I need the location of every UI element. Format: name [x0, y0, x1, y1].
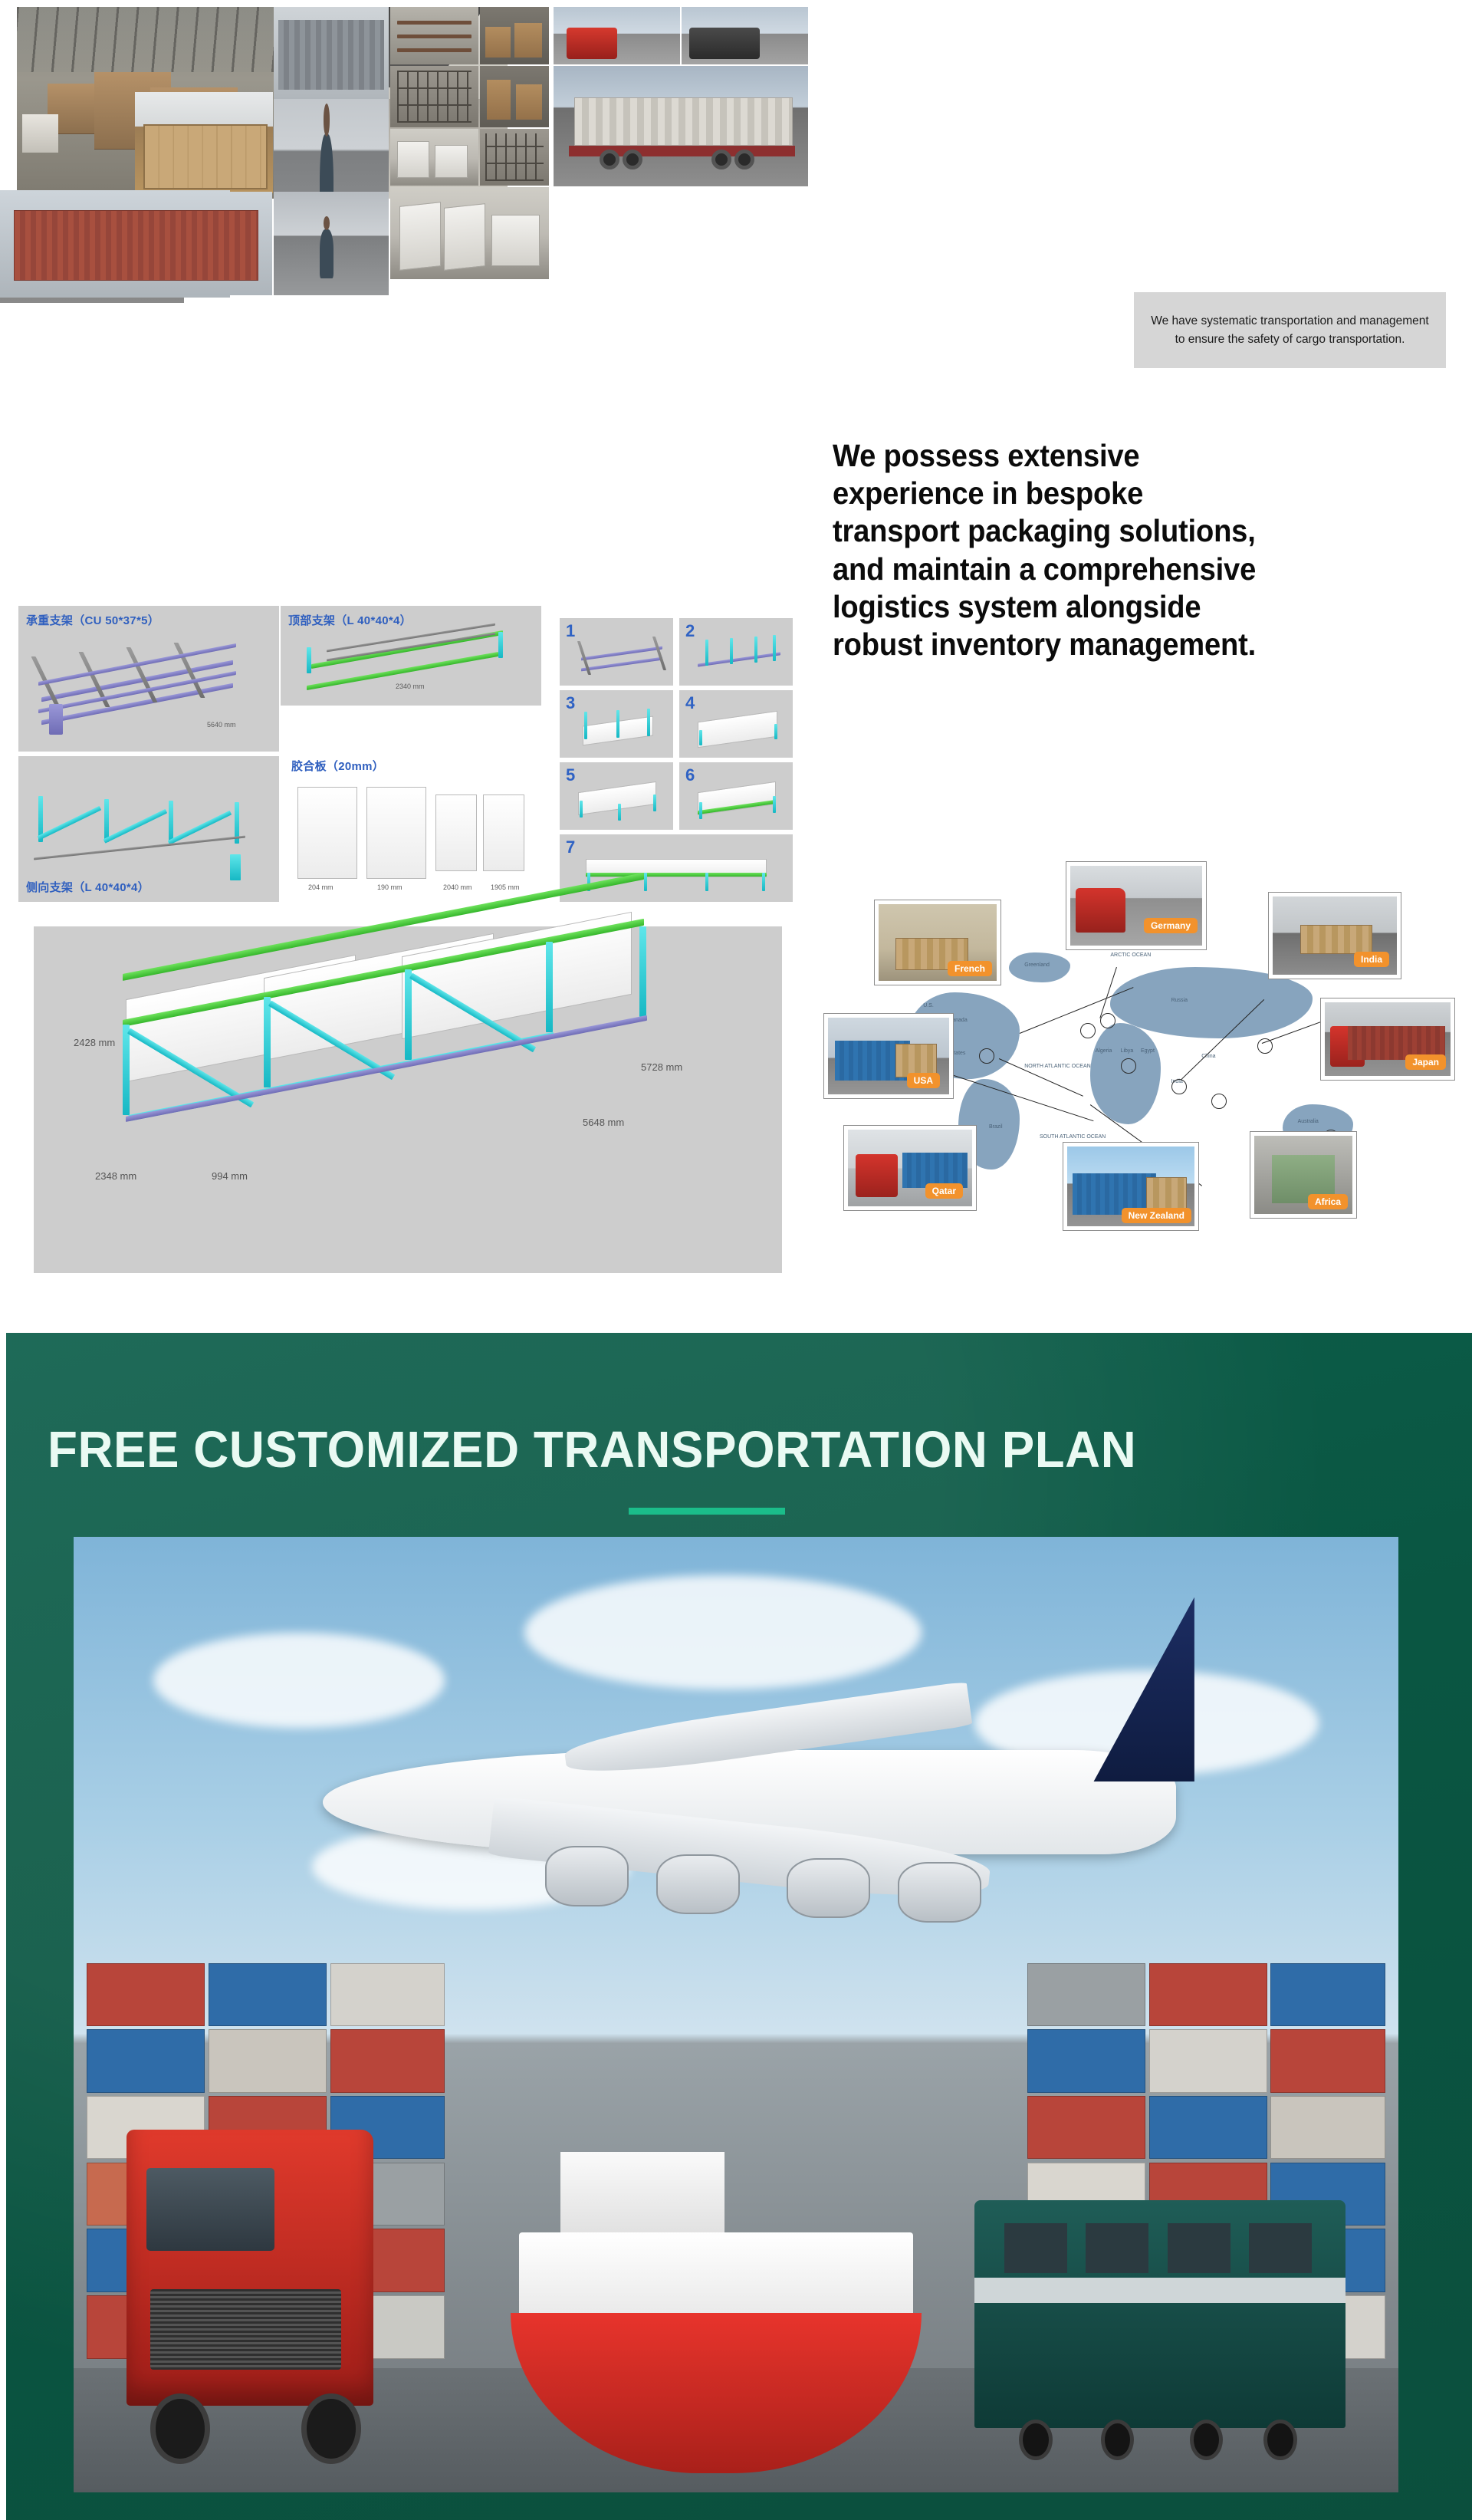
photo-fence-panels-stacked [390, 66, 478, 127]
marketing-page: We have systematic transportation and ma… [0, 0, 1472, 2520]
cad-label-plywood: 胶合板（20mm） [291, 758, 384, 774]
map-label-egypt: Egypt [1141, 1048, 1155, 1054]
photo-fence-panels-rack [480, 129, 549, 186]
cad-dim-top-frame-length: 2340 mm [396, 683, 425, 690]
red-cargo-truck [127, 2101, 524, 2463]
photo-white-panels-warehouse [390, 129, 478, 186]
map-pin-french[interactable] [1080, 1023, 1096, 1038]
cad-hero-3d-frame: 2428 mm 2348 mm 994 mm 5728 mm 5648 mm [34, 926, 782, 1273]
freight-train [974, 2148, 1345, 2473]
map-label-south-atlantic: SOUTH ATLANTIC OCEAN [1040, 1134, 1106, 1140]
map-label-greenland: Greenland [1024, 962, 1050, 968]
photo-worker-at-container [274, 192, 389, 295]
global-destinations-map: Canada U.S. United States Brazil Russia … [820, 832, 1457, 1246]
cad-step-5: 5 [560, 762, 673, 830]
cad-panel-top-frame: 顶部支架（L 40*40*4） 2340 mm [281, 606, 541, 706]
photo-carton-boxes-warehouse [480, 7, 549, 64]
cad-step-7: 7 [560, 834, 793, 902]
destination-card-japan[interactable]: Japan [1320, 998, 1455, 1081]
destination-card-french[interactable]: French [874, 900, 1001, 985]
destination-badge-usa: USA [907, 1073, 940, 1088]
cad-panel-load-bearing-frame: 承重支架（CU 50*37*5） 5640 mm [18, 606, 279, 752]
destination-card-africa[interactable]: Africa [1250, 1131, 1357, 1219]
map-pin-usa[interactable] [979, 1048, 994, 1064]
cargo-ship [511, 2186, 922, 2473]
cad-dim-load-bearing-length: 5640 mm [207, 721, 236, 729]
cad-step-number-3: 3 [566, 693, 575, 713]
destination-card-usa[interactable]: USA [823, 1013, 954, 1099]
map-label-brazil: Brazil [989, 1124, 1003, 1130]
cad-step-number-7: 7 [566, 837, 575, 857]
destination-card-new-zealand[interactable]: New Zealand [1063, 1142, 1199, 1231]
cad-step-3: 3 [560, 690, 673, 758]
photo-white-panels-floor [390, 187, 549, 279]
multimodal-transport-photo [74, 1537, 1398, 2492]
cad-step-4: 4 [679, 690, 793, 758]
destination-badge-qatar: Qatar [925, 1183, 963, 1199]
headline-line-5: logistics system alongside [833, 589, 1201, 624]
headline-line-1: We possess extensive [833, 438, 1139, 473]
map-pin-india[interactable] [1171, 1079, 1187, 1094]
cad-step-6: 6 [679, 762, 793, 830]
destination-badge-germany: Germany [1144, 918, 1198, 933]
cad-panel-plywood: 胶合板（20mm） 204 mm 190 mm 2040 mm 1905 mm [281, 710, 541, 902]
banner-title: FREE CUSTOMIZED TRANSPORTATION PLAN [48, 1420, 1136, 1479]
destination-card-qatar[interactable]: Qatar [843, 1125, 977, 1211]
photo-oversized-wrapped-load-trailer [554, 66, 808, 186]
destination-badge-new-zealand: New Zealand [1122, 1208, 1191, 1223]
cad-step-number-1: 1 [566, 621, 575, 641]
map-label-us: U.S. [923, 1003, 934, 1008]
destination-card-germany[interactable]: Germany [1066, 861, 1207, 950]
cargo-airplane [285, 1614, 1213, 2015]
map-pin-new-zealand[interactable] [1211, 1094, 1227, 1109]
cad-step-number-6: 6 [685, 765, 695, 785]
banner-accent-rule [629, 1508, 785, 1515]
map-label-libya: Libya [1121, 1048, 1134, 1054]
map-label-russia: Russia [1171, 998, 1188, 1003]
transport-caption-box: We have systematic transportation and ma… [1134, 292, 1446, 368]
cad-panel-side-frame: 侧向支架（L 40*40*4） [18, 756, 279, 902]
destination-badge-japan: Japan [1405, 1054, 1446, 1070]
cad-step-number-5: 5 [566, 765, 575, 785]
cad-hero-dim-length-top: 5728 mm [641, 1061, 682, 1073]
destination-badge-india: India [1354, 952, 1389, 967]
cad-hero-dim-height: 2428 mm [74, 1037, 115, 1048]
cad-step-number-4: 4 [685, 693, 695, 713]
cad-hero-dim-width: 2348 mm [95, 1170, 136, 1182]
page-title: We possess extensive experience in bespo… [833, 437, 1410, 663]
headline-line-3: transport packaging solutions, [833, 513, 1256, 548]
destination-badge-africa: Africa [1308, 1194, 1348, 1209]
map-label-algeria: Algeria [1096, 1048, 1112, 1054]
free-plan-banner: FREE CUSTOMIZED TRANSPORTATION PLAN [0, 1333, 1472, 2520]
photo-red-container-row [0, 192, 272, 295]
map-label-australia: Australia [1298, 1119, 1319, 1124]
photo-steel-rack-storage [390, 7, 478, 64]
headline-line-6: robust inventory management. [833, 627, 1256, 662]
headline-block: We possess extensive experience in bespo… [833, 437, 1454, 663]
cad-step-number-2: 2 [685, 621, 695, 641]
cad-hero-dim-length-base: 5648 mm [583, 1117, 624, 1128]
cad-step-2: 2 [679, 618, 793, 686]
map-label-north-atlantic: NORTH ATLANTIC OCEAN [1024, 1064, 1090, 1069]
headline-line-2: experience in bespoke [833, 475, 1143, 511]
photo-grey-container-open [274, 7, 389, 99]
destination-card-india[interactable]: India [1268, 892, 1401, 979]
cad-step-1: 1 [560, 618, 673, 686]
photo-highway-truck-side [682, 7, 808, 64]
cad-hero-dim-bay: 994 mm [212, 1170, 248, 1182]
destination-badge-french: French [948, 961, 992, 976]
transport-caption-text: We have systematic transportation and ma… [1145, 312, 1435, 348]
photo-highway-truck-front [554, 7, 680, 64]
landmass-africa [1090, 1023, 1161, 1124]
banner-left-edge [0, 1333, 6, 2520]
photo-carton-boxes-stacked [480, 66, 549, 127]
map-label-arctic: ARCTIC OCEAN [1110, 952, 1151, 958]
map-pin-germany[interactable] [1100, 1013, 1115, 1028]
photo-wooden-export-crate [135, 92, 273, 193]
headline-line-4: and maintain a comprehensive [833, 551, 1256, 587]
map-pin-qatar[interactable] [1121, 1058, 1136, 1074]
